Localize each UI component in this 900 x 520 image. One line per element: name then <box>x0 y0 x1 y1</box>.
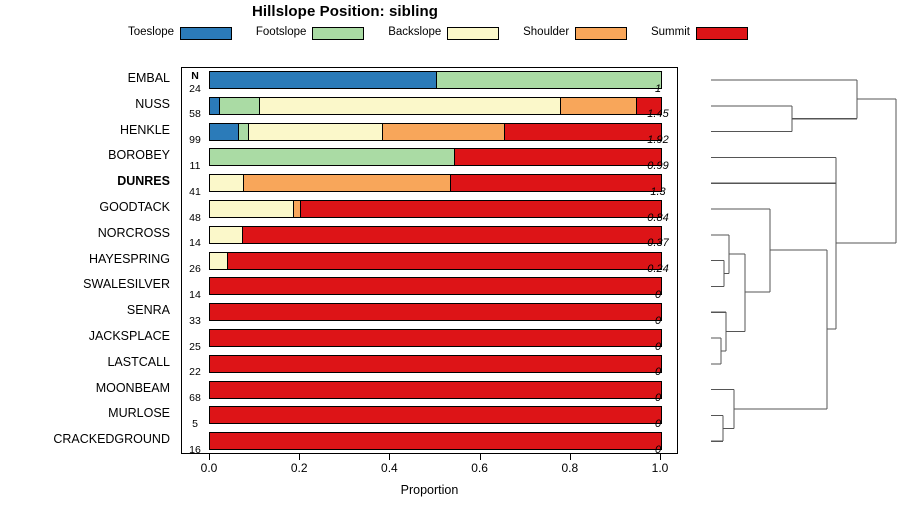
legend-swatch <box>312 27 364 40</box>
x-axis-tick-label: 0.6 <box>460 462 500 474</box>
bar-segment-summit <box>300 201 661 217</box>
row-h-value: 0 <box>639 290 677 301</box>
row-h-value: 0 <box>639 419 677 430</box>
bar-segment-shoulder <box>243 175 450 191</box>
x-axis-tick <box>660 454 661 460</box>
y-axis-label-murlose: MURLOSE <box>0 407 176 420</box>
legend-item-summit: Summit <box>651 27 748 40</box>
bar-segment-backslope <box>259 98 560 114</box>
bar-segment-footslope <box>219 98 259 114</box>
bar-segment-summit <box>227 253 661 269</box>
row-h-value: 1.3 <box>639 187 677 198</box>
y-axis-label-jacksplace: JACKSPLACE <box>0 330 176 343</box>
bar-segment-shoulder <box>560 98 636 114</box>
bar-segment-footslope <box>238 124 248 140</box>
y-axis-label-norcross: NORCROSS <box>0 227 176 240</box>
chart-row: 140.37 <box>182 223 677 249</box>
chart-row: 680 <box>182 378 677 404</box>
chart-row: 110.99 <box>182 146 677 172</box>
row-h-value: 1.45 <box>639 109 677 120</box>
row-n-value: 68 <box>182 393 208 404</box>
dendrogram-svg <box>700 67 898 454</box>
bar-segment-footslope <box>436 72 662 88</box>
row-h-value: 0 <box>639 342 677 353</box>
bar-segment-summit <box>210 278 661 294</box>
bar-segment-summit <box>210 304 661 320</box>
x-axis-tick-label: 0.4 <box>369 462 409 474</box>
x-axis-tick <box>209 454 210 460</box>
stacked-bar <box>209 329 662 347</box>
bar-segment-shoulder <box>293 201 300 217</box>
plot-panel: N H 241581.45991.92110.99411.3480.84140.… <box>181 67 678 454</box>
legend-swatch <box>180 27 232 40</box>
y-axis-label-swalesilver: SWALESILVER <box>0 278 176 291</box>
row-h-value: 0 <box>639 367 677 378</box>
y-axis-label-henkle: HENKLE <box>0 124 176 137</box>
row-n-value: 11 <box>182 161 208 172</box>
legend-swatch <box>447 27 499 40</box>
stacked-bar <box>209 406 662 424</box>
bar-segment-toeslope <box>210 124 238 140</box>
chart-row: 480.84 <box>182 198 677 224</box>
row-n-value: 41 <box>182 187 208 198</box>
bar-segment-backslope <box>210 201 293 217</box>
bar-segment-summit <box>454 149 661 165</box>
row-n-value: 48 <box>182 213 208 224</box>
legend-item-shoulder: Shoulder <box>523 27 627 40</box>
y-axis-label-borobey: BOROBEY <box>0 149 176 162</box>
row-h-value: 0.37 <box>639 238 677 249</box>
row-n-value: 14 <box>182 290 208 301</box>
legend-swatch <box>696 27 748 40</box>
bar-segment-shoulder <box>382 124 504 140</box>
stacked-bar <box>209 123 662 141</box>
stacked-bar <box>209 381 662 399</box>
stacked-bar <box>209 277 662 295</box>
chart-row: 250 <box>182 327 677 353</box>
bar-segment-summit <box>210 356 661 372</box>
bar-segment-backslope <box>248 124 382 140</box>
row-n-value: 58 <box>182 109 208 120</box>
chart-row: 140 <box>182 275 677 301</box>
stacked-bar <box>209 71 662 89</box>
y-axis-label-hayespring: HAYESPRING <box>0 253 176 266</box>
stacked-bar <box>209 174 662 192</box>
row-n-value: 99 <box>182 135 208 146</box>
stacked-bar <box>209 97 662 115</box>
bar-segment-toeslope <box>210 72 436 88</box>
legend-item-footslope: Footslope <box>256 27 365 40</box>
y-axis-label-senra: SENRA <box>0 304 176 317</box>
row-n-value: 33 <box>182 316 208 327</box>
row-h-value: 0.99 <box>639 161 677 172</box>
chart-row: 330 <box>182 301 677 327</box>
x-axis-tick-label: 1.0 <box>640 462 680 474</box>
legend-label: Summit <box>651 27 690 39</box>
y-axis-label-lastcall: LASTCALL <box>0 356 176 369</box>
bar-segment-summit <box>210 407 661 423</box>
x-axis-tick-label: 0.8 <box>550 462 590 474</box>
chart-row: 260.24 <box>182 249 677 275</box>
y-axis-label-moonbeam: MOONBEAM <box>0 382 176 395</box>
bar-segment-summit <box>450 175 661 191</box>
legend-label: Shoulder <box>523 27 569 39</box>
stacked-bar <box>209 252 662 270</box>
legend-label: Toeslope <box>128 27 174 39</box>
bar-segment-backslope <box>210 253 227 269</box>
stacked-bar <box>209 355 662 373</box>
chart-row: 220 <box>182 352 677 378</box>
legend-label: Footslope <box>256 27 307 39</box>
chart-row: 581.45 <box>182 94 677 120</box>
row-h-value: 1.92 <box>639 135 677 146</box>
bar-segment-toeslope <box>210 98 219 114</box>
y-axis-label-embal: EMBAL <box>0 72 176 85</box>
x-axis-tick <box>299 454 300 460</box>
stacked-bar <box>209 200 662 218</box>
bar-segment-footslope <box>210 149 454 165</box>
stacked-bar <box>209 432 662 450</box>
legend-item-toeslope: Toeslope <box>128 27 232 40</box>
bar-segment-backslope <box>210 227 242 243</box>
row-n-value: 5 <box>182 419 208 430</box>
dendrogram <box>700 67 898 454</box>
x-axis-tick <box>480 454 481 460</box>
row-n-value: 26 <box>182 264 208 275</box>
stacked-bar <box>209 226 662 244</box>
row-n-value: 22 <box>182 367 208 378</box>
chart-row: 411.3 <box>182 172 677 198</box>
y-axis-label-crackedground: CRACKEDGROUND <box>0 433 176 446</box>
bar-segment-summit <box>504 124 661 140</box>
x-axis: Proportion 0.00.20.40.60.81.0 <box>181 454 678 500</box>
row-n-value: 14 <box>182 238 208 249</box>
row-n-value: 25 <box>182 342 208 353</box>
row-h-value: 0.24 <box>639 264 677 275</box>
legend-item-backslope: Backslope <box>388 27 499 40</box>
bar-segment-summit <box>242 227 661 243</box>
x-axis-tick <box>570 454 571 460</box>
bar-segment-summit <box>210 330 661 346</box>
x-axis-tick-label: 0.0 <box>189 462 229 474</box>
row-h-value: 1 <box>639 84 677 95</box>
stacked-bar <box>209 148 662 166</box>
chart-row: 241 <box>182 69 677 95</box>
x-axis-tick <box>389 454 390 460</box>
chart-row: 991.92 <box>182 120 677 146</box>
stacked-bar-rows: 241581.45991.92110.99411.3480.84140.3726… <box>182 68 677 453</box>
row-h-value: 0 <box>639 316 677 327</box>
chart-title: Hillslope Position: sibling <box>0 3 690 20</box>
row-h-value: 0 <box>639 393 677 404</box>
legend-label: Backslope <box>388 27 441 39</box>
y-axis-label-goodtack: GOODTACK <box>0 201 176 214</box>
bar-segment-summit <box>210 382 661 398</box>
legend: ToeslopeFootslopeBackslopeShoulderSummit <box>128 24 748 42</box>
chart-row: 50 <box>182 404 677 430</box>
x-axis-title: Proportion <box>181 484 678 497</box>
row-n-value: 24 <box>182 84 208 95</box>
bar-segment-summit <box>210 433 661 449</box>
y-axis-label-dunres: DUNRES <box>0 175 176 188</box>
stacked-bar <box>209 303 662 321</box>
y-axis-labels: EMBALNUSSHENKLEBOROBEYDUNRESGOODTACKNORC… <box>0 67 176 454</box>
chart-row: 160 <box>182 430 677 456</box>
y-axis-label-nuss: NUSS <box>0 98 176 111</box>
x-axis-tick-label: 0.2 <box>279 462 319 474</box>
bar-segment-backslope <box>210 175 243 191</box>
row-h-value: 0.84 <box>639 213 677 224</box>
legend-swatch <box>575 27 627 40</box>
